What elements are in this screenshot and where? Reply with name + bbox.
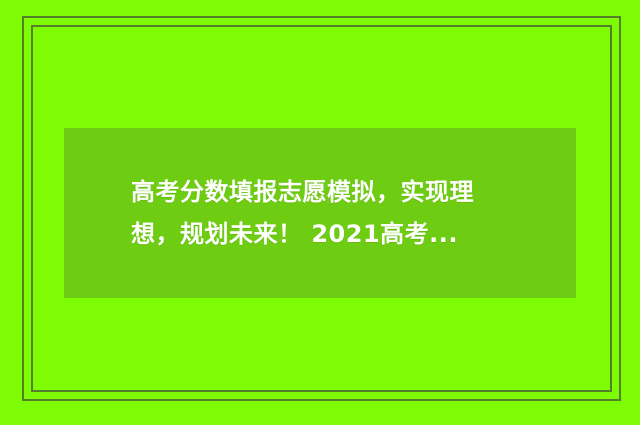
headline-text: 高考分数填报志愿模拟，实现理想，规划未来！ 2021高考... bbox=[131, 171, 511, 255]
page-canvas: 高考分数填报志愿模拟，实现理想，规划未来！ 2021高考... bbox=[0, 0, 640, 425]
content-panel: 高考分数填报志愿模拟，实现理想，规划未来！ 2021高考... bbox=[64, 128, 576, 298]
